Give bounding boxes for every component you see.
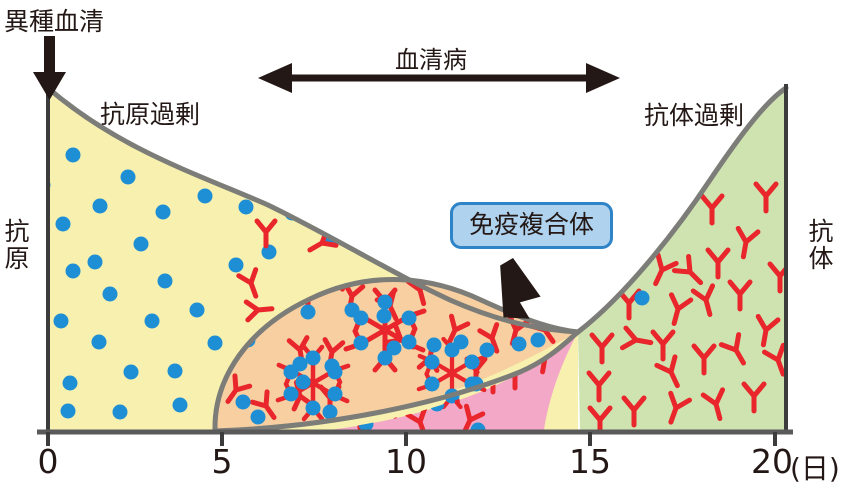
y-axis-right-char-2: 体 (806, 245, 836, 272)
x-axis-unit-label: (日) (790, 447, 840, 487)
serum-sickness-diagram: 異種血清 血清病 抗原過剰 抗体過剰 抗 原 抗 体 免疫複合体 0 5 10 … (0, 0, 841, 484)
antigen-excess-label: 抗原過剰 (100, 95, 200, 131)
y-axis-right-char-1: 抗 (806, 218, 836, 245)
x-tick-label-0: 0 (18, 442, 78, 481)
serum-sickness-label: 血清病 (395, 40, 467, 75)
antibody-excess-label: 抗体過剰 (644, 96, 744, 132)
x-tick-label-15: 15 (560, 442, 620, 481)
x-tick-label-10: 10 (376, 442, 436, 481)
y-axis-left-char-2: 原 (2, 245, 32, 272)
x-tick-label-5: 5 (192, 442, 252, 481)
y-axis-left-char-1: 抗 (2, 218, 32, 245)
heterologous-serum-arrow (33, 36, 66, 100)
heterologous-serum-label: 異種血清 (4, 2, 104, 38)
immune-complex-callout: 免疫複合体 (450, 202, 613, 249)
region-antibody-excess (578, 88, 786, 430)
y-axis-left-label: 抗 原 (2, 218, 32, 272)
y-axis-right-label: 抗 体 (806, 218, 836, 272)
